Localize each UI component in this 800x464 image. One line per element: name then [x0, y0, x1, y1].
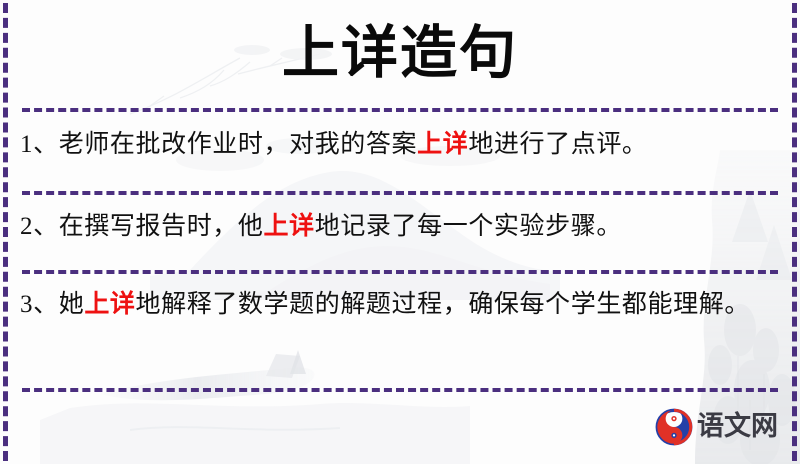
- sentence-3-text-before: 她: [59, 291, 85, 318]
- dashed-separator-4: [22, 388, 778, 392]
- example-sentence-1: 1、老师在批改作业时，对我的答案上详地进行了点评。: [20, 123, 782, 166]
- sentence-1-number: 1、: [20, 131, 59, 158]
- sentence-2-keyword: 上详: [264, 213, 315, 240]
- dashed-separator-3: [22, 270, 778, 274]
- sentence-1-keyword: 上详: [417, 131, 468, 158]
- page-title: 上详造句: [0, 14, 800, 92]
- slide-canvas: 上详造句 1、老师在批改作业时，对我的答案上详地进行了点评。 2、在撰写报告时，…: [0, 0, 800, 464]
- sentence-2-text-after: 地记录了每一个实验步骤。: [315, 213, 622, 240]
- sentence-1-text-before: 老师在批改作业时，对我的答案: [59, 131, 417, 158]
- sentence-2-text-before: 在撰写报告时，他: [59, 213, 264, 240]
- ink-boat-watermark-bottom: [40, 334, 470, 464]
- sentence-3-keyword: 上详: [84, 291, 135, 318]
- site-logo-text: 语文网: [697, 408, 778, 446]
- dashed-separator-2: [22, 191, 778, 195]
- sentence-3-number: 3、: [20, 291, 59, 318]
- dashed-separator-1: [22, 108, 778, 112]
- sentence-1-text-after: 地进行了点评。: [468, 131, 647, 158]
- example-sentence-3: 3、她上详地解释了数学题的解题过程，确保每个学生都能理解。: [20, 283, 782, 326]
- example-sentence-2: 2、在撰写报告时，他上详地记录了每一个实验步骤。: [20, 205, 782, 248]
- site-logo[interactable]: 语文网: [655, 408, 778, 446]
- yin-yang-circle-logo-icon: [655, 408, 693, 446]
- sentence-3-text-after: 地解释了数学题的解题过程，确保每个学生都能理解。: [136, 291, 750, 318]
- sentence-2-number: 2、: [20, 213, 59, 240]
